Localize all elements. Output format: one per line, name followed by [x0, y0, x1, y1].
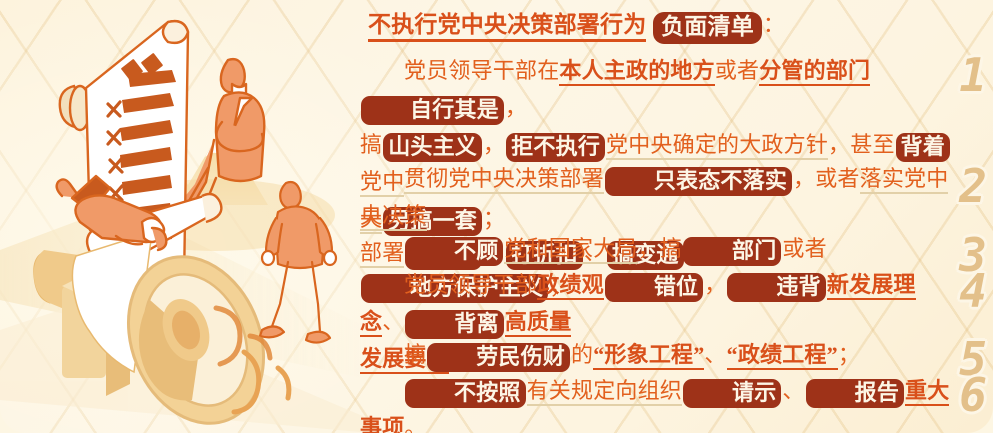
text-run: 贯彻党中央决策部署 [404, 166, 604, 194]
text-run: 。 [404, 415, 426, 433]
text-run: ，甚至 [828, 132, 895, 157]
illustration-scroll-megaphone [0, 0, 372, 433]
text-run: ， [704, 272, 726, 297]
highlight-chip: 拒不执行 [506, 133, 605, 162]
highlight-chip: 错位 [605, 273, 703, 302]
highlight-chip: 山头主义 [383, 133, 482, 162]
text-run: “形象工程” [593, 342, 704, 370]
index-numeral-2: 2 [959, 163, 987, 209]
highlight-chip: 请示 [683, 379, 781, 408]
highlight-chip: 不按照 [405, 379, 526, 408]
highlight-chip: 部门 [683, 237, 781, 266]
highlight-chip: 劳民伤财 [427, 343, 570, 372]
index-numeral-4: 4 [959, 268, 987, 314]
text-run: 高质量 [505, 309, 572, 337]
text-run: 搞 [404, 342, 426, 367]
text-run: 的 [571, 342, 593, 367]
text-line: 不按照有关规定向组织请示、报告重大事项。 [360, 372, 960, 433]
text-line: 贯彻党中央决策部署只表态不落实，或者落实党中央决策 [360, 160, 960, 234]
text-line: 搞劳民伤财的“形象工程”、“政绩工程”； [360, 336, 960, 373]
text-line: 党员领导干部在本人主政的地方或者分管的部门自行其是， [360, 52, 960, 126]
text-run: ， [483, 132, 505, 157]
infographic-card: 1 2 3 4 5 6 不执行党中央决策部署行为 负面清单： 党员领导干部在本人… [0, 0, 993, 433]
page-title: 不执行党中央决策部署行为 负面清单： [368, 6, 785, 44]
text-run: ， [505, 95, 527, 120]
text-run: ，或者 [793, 166, 860, 191]
highlight-chip: 只表态不落实 [605, 167, 792, 196]
index-numeral-6: 6 [959, 372, 987, 418]
clause-5: 搞劳民伤财的“形象工程”、“政绩工程”； [360, 336, 960, 373]
text-run: ，搞 [638, 236, 682, 261]
text-run: 或者 [715, 58, 759, 83]
title-chip-negative-list: 负面清单 [653, 12, 762, 44]
text-column: 不执行党中央决策部署行为 负面清单： 党员领导干部在本人主政的地方或者分管的部门… [360, 0, 960, 433]
text-run: 党中央确定的大政方针 [606, 132, 828, 160]
text-run: 、 [382, 309, 404, 334]
highlight-chip: 报告 [806, 379, 904, 408]
clause-6: 不按照有关规定向组织请示、报告重大事项。 [360, 372, 960, 433]
text-run: 分管的部门 [759, 58, 870, 86]
index-numeral-1: 1 [959, 52, 987, 98]
highlight-chip: 不顾 [405, 237, 503, 266]
text-run: 政绩观 [537, 272, 604, 300]
text-run: 党员领导干部 [404, 272, 537, 297]
text-run: 有关规定向组织 [527, 378, 682, 406]
highlight-chip: 违背 [727, 273, 825, 302]
text-line: 党员领导干部政绩观错位，违背新发展理念、背离高质量 [360, 266, 960, 340]
text-run: “政绩工程” [727, 342, 838, 370]
text-run: 党员领导干部在 [404, 58, 559, 83]
highlight-chip: 背着 [896, 133, 950, 162]
text-run: 、 [704, 342, 726, 367]
highlight-chip: 自行其是 [361, 96, 504, 125]
page-title-text: 不执行党中央决策部署行为 [368, 12, 646, 42]
highlight-chip: 背离 [405, 310, 503, 339]
text-run: 或者 [782, 236, 826, 261]
text-run: 搞 [360, 132, 382, 157]
text-run: ； [838, 342, 860, 367]
title-colon: ： [763, 12, 785, 37]
text-run: 本人主政的地方 [559, 58, 714, 86]
text-run: 、 [782, 378, 804, 403]
text-run: 党和国家大局 [504, 236, 637, 264]
